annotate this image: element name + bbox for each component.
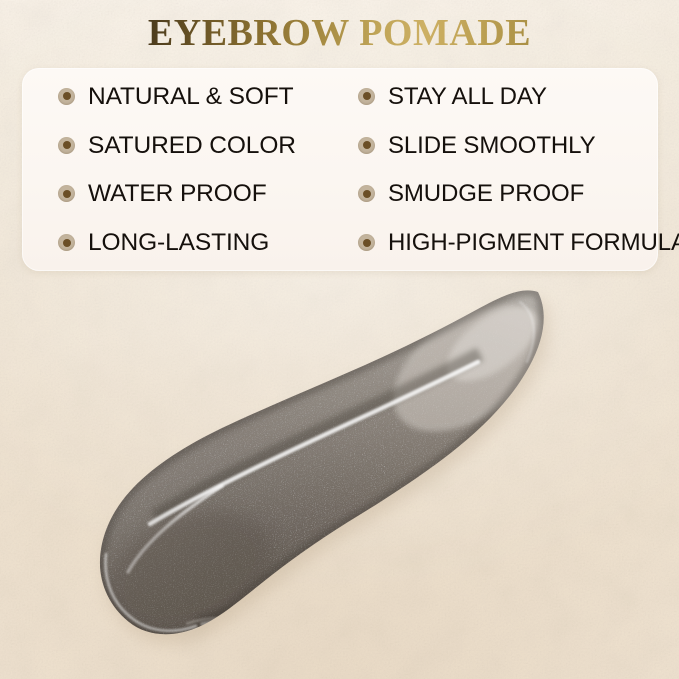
bullet-icon — [58, 88, 75, 105]
bullet-icon — [358, 185, 375, 202]
bullet-icon — [358, 137, 375, 154]
bullet-icon — [58, 137, 75, 154]
feature-item-stay-all-day: STAY ALL DAY — [358, 83, 658, 110]
feature-item-natural-soft: NATURAL & SOFT — [58, 83, 358, 110]
bullet-icon — [58, 234, 75, 251]
swatch-body — [0, 272, 679, 679]
feature-label: SMUDGE PROOF — [388, 180, 584, 207]
page-title-text: EYEBROW POMADE — [148, 11, 531, 55]
page-title: EYEBROW POMADE — [0, 11, 679, 55]
feature-item-satured-color: SATURED COLOR — [58, 132, 358, 159]
feature-label: STAY ALL DAY — [388, 83, 547, 110]
product-swatch-image — [0, 272, 679, 679]
feature-label: HIGH-PIGMENT FORMULA — [388, 229, 679, 256]
feature-label: WATER PROOF — [88, 180, 267, 207]
feature-item-slide-smoothly: SLIDE SMOOTHLY — [358, 132, 658, 159]
feature-label: LONG-LASTING — [88, 229, 269, 256]
feature-item-water-proof: WATER PROOF — [58, 180, 358, 207]
bullet-icon — [58, 185, 75, 202]
bullet-icon — [358, 88, 375, 105]
feature-item-high-pigment-formula: HIGH-PIGMENT FORMULA — [358, 229, 658, 256]
feature-item-smudge-proof: SMUDGE PROOF — [358, 180, 658, 207]
feature-label: SATURED COLOR — [88, 132, 296, 159]
feature-item-long-lasting: LONG-LASTING — [58, 229, 358, 256]
feature-card: NATURAL & SOFT STAY ALL DAY SATURED COLO… — [22, 68, 658, 271]
feature-list: NATURAL & SOFT STAY ALL DAY SATURED COLO… — [22, 68, 658, 271]
feature-label: NATURAL & SOFT — [88, 83, 294, 110]
feature-label: SLIDE SMOOTHLY — [388, 132, 596, 159]
product-poster: EYEBROW POMADE NATURAL & SOFT STAY ALL D… — [0, 0, 679, 679]
bullet-icon — [358, 234, 375, 251]
product-swatch — [0, 272, 679, 679]
